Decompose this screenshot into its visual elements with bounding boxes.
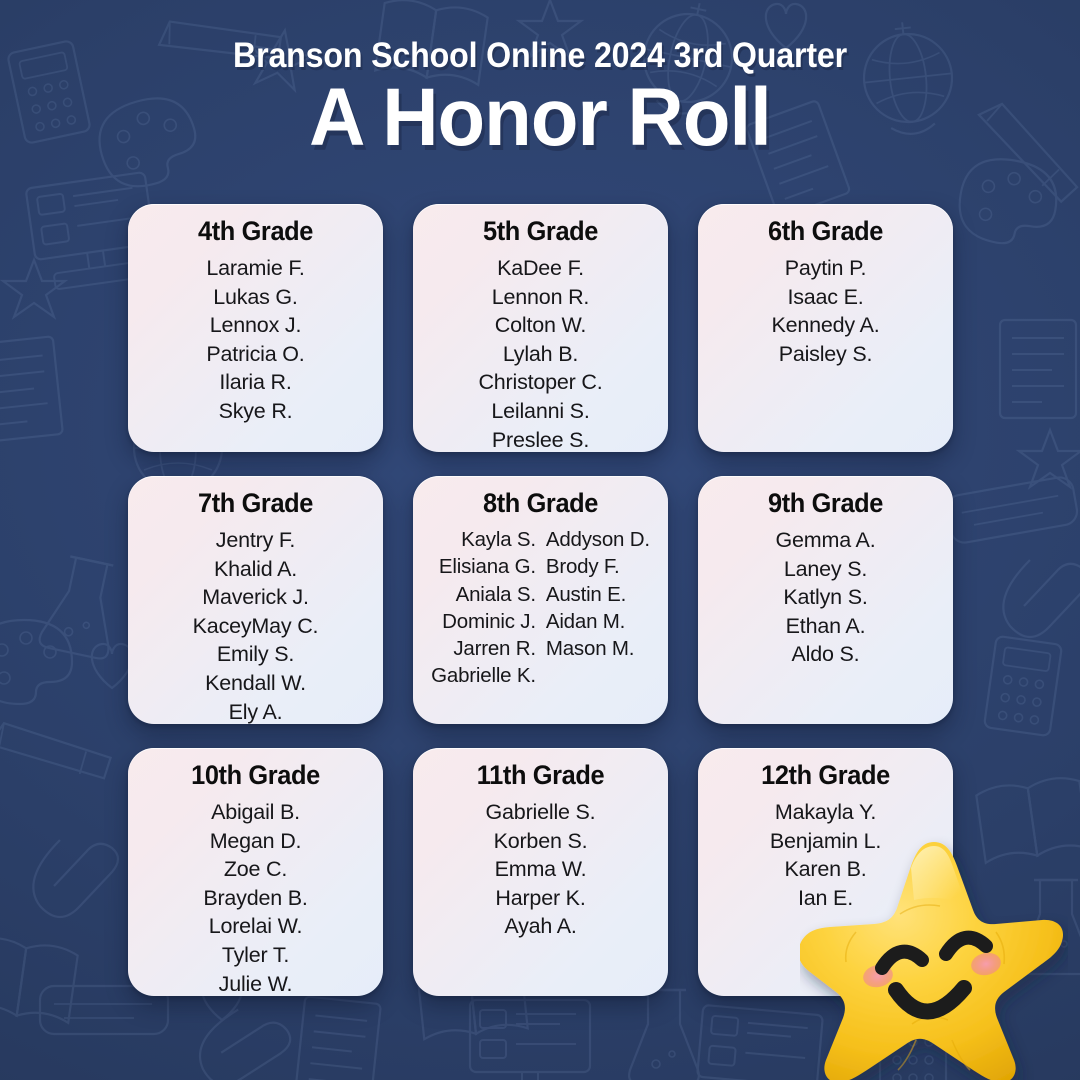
student-name: Megan D.	[203, 827, 307, 856]
student-name: Paytin P.	[772, 254, 880, 283]
student-name-list: Gabrielle S.Korben S.Emma W.Harper K.Aya…	[423, 798, 658, 941]
student-name: Zoe C.	[203, 855, 307, 884]
student-name: Ethan A.	[776, 612, 876, 641]
student-name: Kayla S.	[431, 526, 536, 553]
grade-card-title: 12th Grade	[715, 760, 936, 791]
student-name: Addyson D.	[546, 526, 650, 553]
student-name: Khalid A.	[193, 555, 319, 584]
student-name: Aniala S.	[431, 581, 536, 608]
student-name: KaDee F.	[478, 254, 602, 283]
student-name: Lennon R.	[478, 283, 602, 312]
student-name: Austin E.	[546, 581, 650, 608]
student-name: Ian E.	[770, 884, 881, 913]
student-name: Lorelai W.	[203, 912, 307, 941]
grade-card: 9th GradeGemma A.Laney S.Katlyn S.Ethan …	[698, 476, 953, 724]
student-name: Lennox J.	[206, 311, 304, 340]
student-name: Leilanni S.	[478, 397, 602, 426]
grade-card-title: 8th Grade	[430, 488, 651, 519]
student-name: Ely A.	[193, 698, 319, 724]
student-name: Karen B.	[770, 855, 881, 884]
poster-header: Branson School Online 2024 3rd Quarter A…	[0, 0, 1080, 159]
student-name: Isaac E.	[772, 283, 880, 312]
student-name: Brayden B.	[203, 884, 307, 913]
student-name-list: Gemma A.Laney S.Katlyn S.Ethan A.Aldo S.	[708, 526, 943, 669]
student-name: Colton W.	[478, 311, 602, 340]
student-name: Paisley S.	[772, 340, 880, 369]
student-name: Jarren R.	[431, 635, 536, 662]
grade-card-grid: 4th GradeLaramie F.Lukas G.Lennox J.Patr…	[128, 204, 953, 996]
student-name-column: Kayla S.Elisiana G.Aniala S.Dominic J.Ja…	[431, 526, 536, 690]
grade-card-title: 6th Grade	[715, 216, 936, 247]
student-name-list: Jentry F.Khalid A.Maverick J.KaceyMay C.…	[138, 526, 373, 724]
student-name: Gabrielle K.	[431, 662, 536, 689]
student-name: Lylah B.	[478, 340, 602, 369]
student-name: Skye R.	[206, 397, 304, 426]
student-name-column: Abigail B.Megan D.Zoe C.Brayden B.Lorela…	[203, 798, 307, 996]
student-name: Emma W.	[486, 855, 596, 884]
student-name: Laney S.	[776, 555, 876, 584]
student-name: Julie W.	[203, 970, 307, 996]
student-name: Korben S.	[486, 827, 596, 856]
student-name: Kennedy A.	[772, 311, 880, 340]
grade-card: 7th GradeJentry F.Khalid A.Maverick J.Ka…	[128, 476, 383, 724]
student-name: Dominic J.	[431, 608, 536, 635]
student-name-column: Gemma A.Laney S.Katlyn S.Ethan A.Aldo S.	[776, 526, 876, 669]
student-name: Laramie F.	[206, 254, 304, 283]
student-name: Christoper C.	[478, 368, 602, 397]
student-name-list: Kayla S.Elisiana G.Aniala S.Dominic J.Ja…	[423, 526, 658, 690]
student-name-column: Paytin P.Isaac E.Kennedy A.Paisley S.	[772, 254, 880, 368]
student-name: Maverick J.	[193, 583, 319, 612]
student-name: Emily S.	[193, 640, 319, 669]
student-name: Elisiana G.	[431, 553, 536, 580]
grade-card: 6th GradePaytin P.Isaac E.Kennedy A.Pais…	[698, 204, 953, 452]
student-name-list: Paytin P.Isaac E.Kennedy A.Paisley S.	[708, 254, 943, 368]
student-name: Preslee S.	[478, 426, 602, 452]
student-name: Katlyn S.	[776, 583, 876, 612]
student-name: Kendall W.	[193, 669, 319, 698]
student-name: KaceyMay C.	[193, 612, 319, 641]
student-name-list: Makayla Y.Benjamin L.Karen B.Ian E.	[708, 798, 943, 912]
grade-card-title: 11th Grade	[430, 760, 651, 791]
grade-card: 8th GradeKayla S.Elisiana G.Aniala S.Dom…	[413, 476, 668, 724]
student-name: Brody F.	[546, 553, 650, 580]
student-name-list: KaDee F.Lennon R.Colton W.Lylah B.Christ…	[423, 254, 658, 452]
student-name-column: Jentry F.Khalid A.Maverick J.KaceyMay C.…	[193, 526, 319, 724]
student-name-list: Abigail B.Megan D.Zoe C.Brayden B.Lorela…	[138, 798, 373, 996]
student-name: Mason M.	[546, 635, 650, 662]
blush-right	[969, 950, 1003, 978]
student-name: Harper K.	[486, 884, 596, 913]
student-name: Aldo S.	[776, 640, 876, 669]
grade-card-title: 5th Grade	[430, 216, 651, 247]
grade-card: 12th GradeMakayla Y.Benjamin L.Karen B.I…	[698, 748, 953, 996]
student-name: Gemma A.	[776, 526, 876, 555]
student-name: Benjamin L.	[770, 827, 881, 856]
student-name-column: Laramie F.Lukas G.Lennox J.Patricia O.Il…	[206, 254, 304, 426]
student-name: Ayah A.	[486, 912, 596, 941]
grade-card-title: 9th Grade	[715, 488, 936, 519]
student-name-column: KaDee F.Lennon R.Colton W.Lylah B.Christ…	[478, 254, 602, 452]
page-title: A Honor Roll	[27, 77, 1053, 159]
student-name: Ilaria R.	[206, 368, 304, 397]
grade-card-title: 10th Grade	[145, 760, 366, 791]
student-name: Patricia O.	[206, 340, 304, 369]
student-name-column: Gabrielle S.Korben S.Emma W.Harper K.Aya…	[486, 798, 596, 941]
grade-card: 4th GradeLaramie F.Lukas G.Lennox J.Patr…	[128, 204, 383, 452]
grade-card: 11th GradeGabrielle S.Korben S.Emma W.Ha…	[413, 748, 668, 996]
student-name: Aidan M.	[546, 608, 650, 635]
grade-card-title: 7th Grade	[145, 488, 366, 519]
student-name-column: Makayla Y.Benjamin L.Karen B.Ian E.	[770, 798, 881, 912]
student-name-list: Laramie F.Lukas G.Lennox J.Patricia O.Il…	[138, 254, 373, 426]
student-name: Makayla Y.	[770, 798, 881, 827]
student-name: Jentry F.	[193, 526, 319, 555]
grade-card: 10th GradeAbigail B.Megan D.Zoe C.Brayde…	[128, 748, 383, 996]
student-name: Lukas G.	[206, 283, 304, 312]
honor-roll-poster: Branson School Online 2024 3rd Quarter A…	[0, 0, 1080, 1080]
student-name: Abigail B.	[203, 798, 307, 827]
student-name: Gabrielle S.	[486, 798, 596, 827]
poster-subtitle: Branson School Online 2024 3rd Quarter	[43, 38, 1037, 75]
grade-card-title: 4th Grade	[145, 216, 366, 247]
student-name-column: Addyson D.Brody F.Austin E.Aidan M.Mason…	[546, 526, 650, 690]
grade-card: 5th GradeKaDee F.Lennon R.Colton W.Lylah…	[413, 204, 668, 452]
student-name: Tyler T.	[203, 941, 307, 970]
